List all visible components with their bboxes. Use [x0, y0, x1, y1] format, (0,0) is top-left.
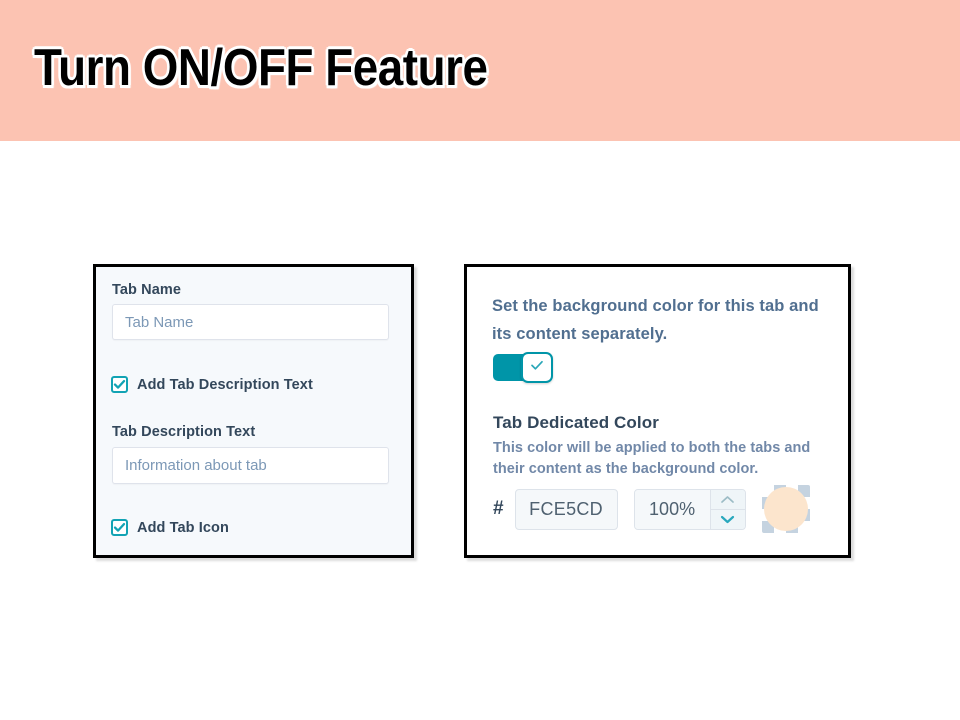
chevron-up-icon[interactable] — [711, 490, 745, 510]
add-tab-description-label: Add Tab Description Text — [137, 377, 313, 393]
background-color-description: Set the background color for this tab an… — [492, 292, 832, 348]
toggle-knob — [521, 352, 553, 383]
checkmark-icon — [111, 376, 128, 393]
tab-name-label: Tab Name — [112, 282, 181, 298]
page-title: Turn ON/OFF Feature — [34, 38, 487, 98]
color-swatch — [764, 487, 808, 531]
chevron-down-icon[interactable] — [711, 510, 745, 529]
background-color-toggle[interactable] — [493, 352, 553, 383]
checkmark-icon — [111, 519, 128, 536]
tab-settings-panel: Tab Name Tab Name Add Tab Description Te… — [93, 264, 414, 558]
tab-description-label: Tab Description Text — [112, 424, 255, 440]
hash-symbol: # — [493, 498, 504, 520]
dedicated-color-label: Tab Dedicated Color — [493, 413, 659, 433]
dedicated-color-description: This color will be applied to both the t… — [493, 438, 823, 480]
add-tab-icon-checkbox[interactable]: Add Tab Icon — [111, 519, 229, 536]
add-tab-description-checkbox[interactable]: Add Tab Description Text — [111, 376, 313, 393]
tab-name-input[interactable]: Tab Name — [112, 304, 389, 340]
color-picker-row: # FCE5CD 100% — [493, 485, 810, 533]
opacity-input[interactable]: 100% — [635, 490, 710, 529]
hex-color-input[interactable]: FCE5CD — [515, 489, 618, 530]
opacity-control: 100% — [634, 489, 746, 530]
checkmark-icon — [529, 357, 545, 378]
tab-description-input[interactable]: Information about tab — [112, 447, 389, 484]
opacity-stepper — [710, 490, 745, 529]
color-swatch-preview[interactable] — [762, 485, 810, 533]
background-color-panel: Set the background color for this tab an… — [464, 264, 851, 558]
add-tab-icon-label: Add Tab Icon — [137, 520, 229, 536]
